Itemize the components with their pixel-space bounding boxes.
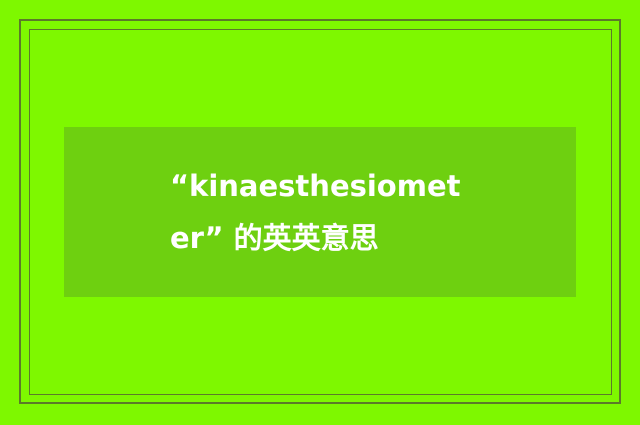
headline-panel: “kinaesthesiometer” 的英英意思 xyxy=(64,127,576,297)
banner-canvas: “kinaesthesiometer” 的英英意思 xyxy=(0,0,640,425)
headline-text: “kinaesthesiometer” 的英英意思 xyxy=(170,160,470,264)
